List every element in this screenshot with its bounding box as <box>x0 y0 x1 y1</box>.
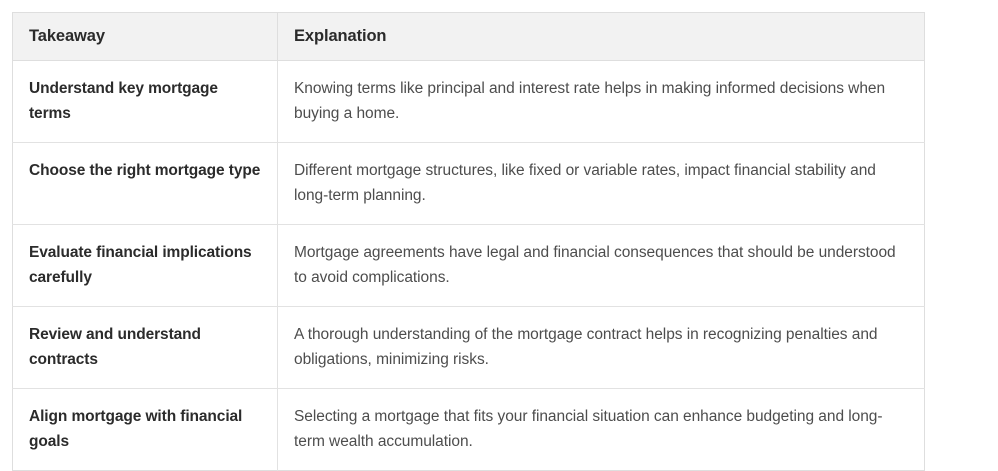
table-row: Understand key mortgage terms Knowing te… <box>13 61 925 143</box>
page-root: Takeaway Explanation Understand key mort… <box>0 0 998 470</box>
table-row: Choose the right mortgage type Different… <box>13 143 925 225</box>
cell-explanation: Knowing terms like principal and interes… <box>278 61 925 143</box>
column-header-explanation: Explanation <box>278 13 925 61</box>
cell-takeaway: Evaluate financial implications carefull… <box>13 225 278 307</box>
cell-takeaway: Choose the right mortgage type <box>13 143 278 225</box>
table-header: Takeaway Explanation <box>13 13 925 61</box>
table-row: Evaluate financial implications carefull… <box>13 225 925 307</box>
cell-explanation: Mortgage agreements have legal and finan… <box>278 225 925 307</box>
cell-takeaway: Align mortgage with financial goals <box>13 389 278 471</box>
cell-explanation: Selecting a mortgage that fits your fina… <box>278 389 925 471</box>
cell-explanation: A thorough understanding of the mortgage… <box>278 307 925 389</box>
cell-explanation: Different mortgage structures, like fixe… <box>278 143 925 225</box>
table-header-row: Takeaway Explanation <box>13 13 925 61</box>
table-row: Align mortgage with financial goals Sele… <box>13 389 925 471</box>
column-header-takeaway: Takeaway <box>13 13 278 61</box>
cell-takeaway: Review and understand contracts <box>13 307 278 389</box>
table-row: Review and understand contracts A thorou… <box>13 307 925 389</box>
table-body: Understand key mortgage terms Knowing te… <box>13 61 925 471</box>
mortgage-key-takeaways-table: Takeaway Explanation Understand key mort… <box>12 12 925 471</box>
cell-takeaway: Understand key mortgage terms <box>13 61 278 143</box>
